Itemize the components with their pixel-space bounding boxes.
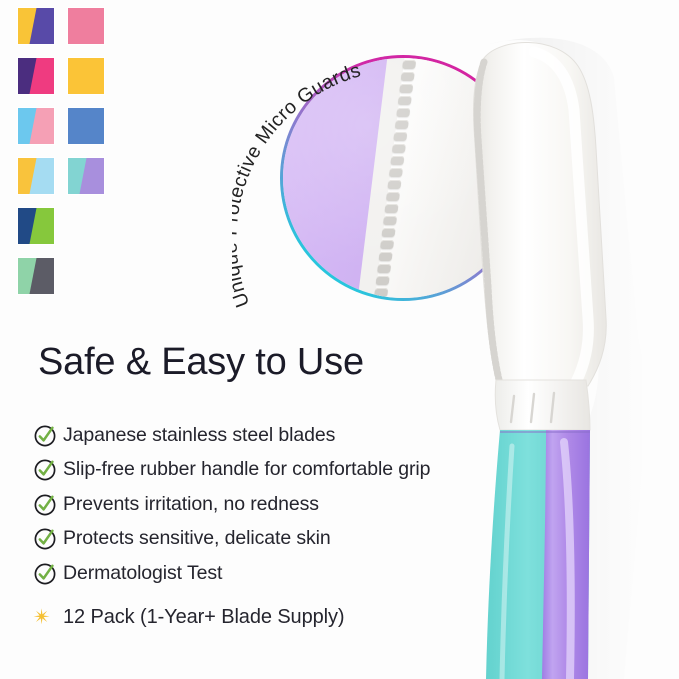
swatch-color-a [68,108,104,144]
micro-guard-tooth [393,132,407,141]
magnifier-lens [283,58,523,298]
check-circle-icon [33,492,63,517]
micro-guard-tooth [387,180,401,189]
page-title: Safe & Easy to Use [38,341,364,384]
magnifier-ring [280,55,526,301]
check-circle-icon [33,561,63,586]
razor-grip-ridges [511,393,554,422]
feature-label: Dermatologist Test [63,562,222,585]
feature-item-4: Dermatologist Test [33,556,463,591]
micro-guard-tooth [399,84,413,93]
micro-guard-tooth [378,252,392,261]
micro-guard-tooth [397,96,411,105]
color-swatch-3-left[interactable] [18,158,54,194]
check-circle-icon [33,526,63,551]
micro-guard-tooth [396,108,410,117]
swatch-row [18,258,110,294]
color-swatch-0-right[interactable] [68,8,104,44]
swatch-row [18,58,110,94]
micro-guard-tooth [381,228,395,237]
micro-guard-tooth [394,120,408,129]
color-swatch-1-right[interactable] [68,58,104,94]
feature-item-3: Protects sensitive, delicate skin [33,522,463,557]
micro-guard-tooth [374,288,388,297]
feature-item-1: Slip-free rubber handle for comfortable … [33,453,463,488]
swatch-row [18,8,110,44]
micro-guard-tooth [402,60,416,69]
micro-guard-tooth [375,276,389,285]
razor-handle-highlight-left [502,446,512,679]
swatch-spacer [68,208,104,244]
feature-label: Protects sensitive, delicate skin [63,527,331,550]
micro-guard-tooth [385,192,399,201]
color-swatch-0-left[interactable] [18,8,54,44]
razor-handle-teal [486,430,590,679]
feature-label: Slip-free rubber handle for comfortable … [63,458,430,481]
micro-guard-tooth [391,144,405,153]
razor-neck [495,380,590,430]
star-burst-icon: ✴ [33,607,63,628]
razor-handle-purple [542,430,590,679]
product-feature-image: Unique Protective Micro Guards [0,0,679,679]
pack-quantity-item: ✴ 12 Pack (1-Year+ Blade Supply) [33,606,344,629]
micro-guard-magnifier [280,55,526,301]
color-swatch-5-left[interactable] [18,258,54,294]
swatch-color-a [68,58,104,94]
color-swatch-2-right[interactable] [68,108,104,144]
swatch-color-a [68,8,104,44]
swatch-row [18,208,110,244]
razor-handle-highlight [564,442,571,679]
color-swatch-1-left[interactable] [18,58,54,94]
color-swatch-3-right[interactable] [68,158,104,194]
micro-guard-tooth [382,216,396,225]
swatch-row [18,108,110,144]
micro-guard-tooth [384,204,398,213]
feature-item-0: Japanese stainless steel blades [33,418,463,453]
feature-item-2: Prevents irritation, no redness [33,487,463,522]
color-swatch-2-left[interactable] [18,108,54,144]
feature-label: Japanese stainless steel blades [63,424,335,447]
micro-guard-tooth [400,72,414,81]
feature-list: Japanese stainless steel bladesSlip-free… [33,418,463,591]
check-circle-icon [33,423,63,448]
pack-quantity-label: 12 Pack (1-Year+ Blade Supply) [63,606,344,629]
micro-guard-tooth [390,156,404,165]
micro-guard-tooth [377,264,391,273]
color-variant-swatches [18,8,110,308]
check-circle-icon [33,457,63,482]
feature-label: Prevents irritation, no redness [63,493,319,516]
swatch-row [18,158,110,194]
color-swatch-4-left[interactable] [18,208,54,244]
swatch-spacer [68,258,104,294]
razor-cap-highlight [534,52,588,382]
micro-guard-tooth [380,240,394,249]
micro-guard-tooth [388,168,402,177]
